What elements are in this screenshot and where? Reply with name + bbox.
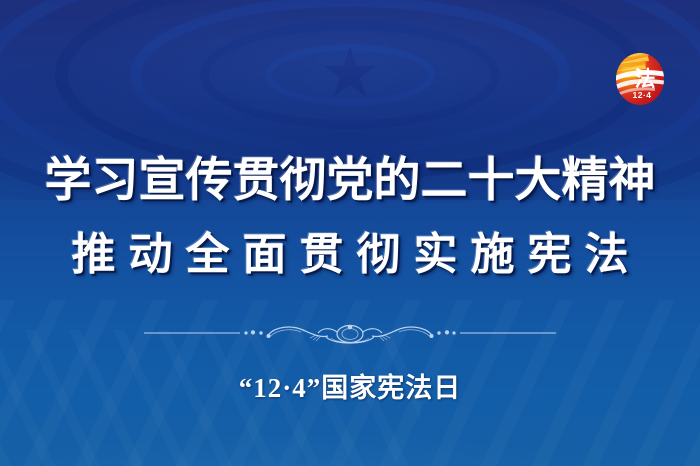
headline-block: 学习宣传贯彻党的二十大精神 推动全面贯彻实施宪法: [0, 150, 700, 285]
flourish-divider-icon: [0, 318, 700, 352]
constitution-day-logo: 法 12·4: [615, 52, 665, 106]
subtitle-text: “12·4”国家宪法日: [0, 371, 700, 405]
ripple-ring: [200, 21, 500, 129]
svg-text:12·4: 12·4: [632, 90, 651, 100]
headline-line-1: 学习宣传贯彻党的二十大精神: [0, 150, 700, 210]
star-icon: [323, 47, 377, 101]
ripple-ring: [265, 44, 435, 106]
ripple-ring: [130, 0, 570, 154]
svg-text:法: 法: [635, 67, 656, 91]
headline-line-2: 推动全面贯彻实施宪法: [0, 225, 700, 285]
poster-canvas: 法 12·4 学习宣传贯彻党的二十大精神 推动全面贯彻实施宪法: [0, 0, 700, 466]
